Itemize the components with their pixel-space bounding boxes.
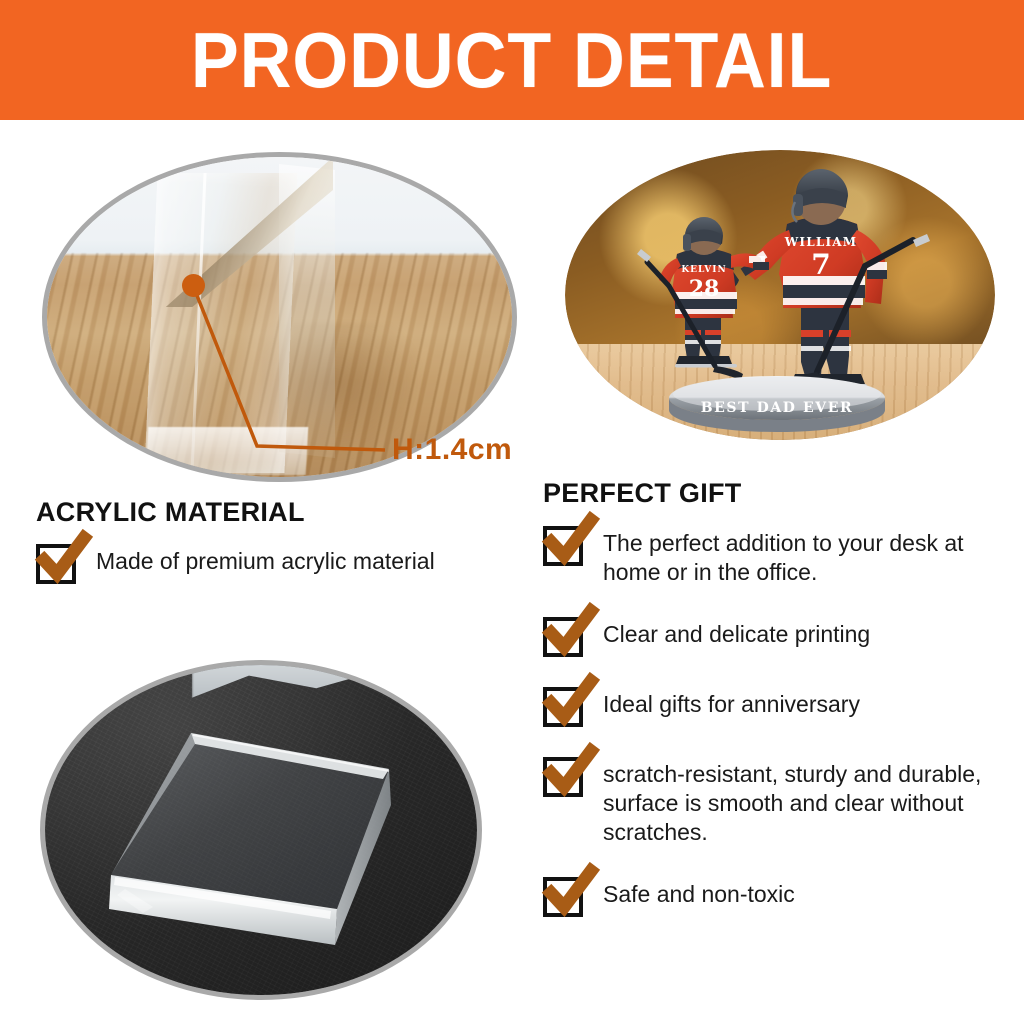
list-item-label: Safe and non-toxic: [603, 873, 795, 909]
list-item-label: Clear and delicate printing: [603, 613, 870, 649]
thickness-callout-dot: [182, 274, 205, 297]
checkmark-icon: [543, 683, 587, 727]
acrylic-material-heading: ACRYLIC MATERIAL: [36, 497, 305, 528]
figurine-base: BEST DAD EVER: [669, 376, 885, 432]
child-hockey-figure: KELVIN 28: [637, 217, 769, 380]
perfect-gift-heading: PERFECT GIFT: [543, 478, 742, 509]
adult-hockey-figure: WILLIAM 7: [709, 169, 930, 389]
list-item: scratch-resistant, sturdy and durable, s…: [543, 753, 1013, 847]
list-item: Ideal gifts for anniversary: [543, 683, 1013, 727]
hockey-figurine-photo: WILLIAM 7: [565, 150, 995, 440]
svg-text:BEST DAD EVER: BEST DAD EVER: [701, 400, 854, 416]
list-item: Clear and delicate printing: [543, 613, 1013, 657]
acrylic-slab-base-highlight: [146, 427, 309, 475]
list-item: The perfect addition to your desk at hom…: [543, 522, 1013, 587]
acrylic-material-feature-list: Made of premium acrylic material: [36, 540, 526, 606]
thickness-callout-label: H:1.4cm: [392, 433, 512, 467]
perfect-gift-feature-list: The perfect addition to your desk at hom…: [543, 522, 1013, 943]
figurine-artwork: WILLIAM 7: [565, 150, 995, 440]
svg-text:KELVIN: KELVIN: [681, 265, 726, 275]
list-item-label: Ideal gifts for anniversary: [603, 683, 860, 719]
page-title: PRODUCT DETAIL: [191, 21, 832, 99]
list-item-label: Made of premium acrylic material: [96, 540, 435, 576]
list-item-label: The perfect addition to your desk at hom…: [603, 522, 1013, 587]
checkmark-icon: [36, 540, 80, 584]
svg-text:28: 28: [689, 276, 720, 302]
acrylic-block-artwork: [45, 665, 482, 1000]
list-item: Safe and non-toxic: [543, 873, 1013, 917]
page-header-banner: PRODUCT DETAIL: [0, 0, 1024, 120]
list-item-label: scratch-resistant, sturdy and durable, s…: [603, 753, 1013, 847]
checkmark-icon: [543, 613, 587, 657]
svg-text:WILLIAM: WILLIAM: [784, 235, 858, 249]
product-detail-page: PRODUCT DETAIL H:1.4cm: [0, 0, 1024, 1024]
checkmark-icon: [543, 522, 587, 566]
acrylic-block-on-slate-photo: [40, 660, 482, 1000]
checkmark-icon: [543, 753, 587, 797]
list-item: Made of premium acrylic material: [36, 540, 526, 584]
svg-text:7: 7: [811, 248, 830, 281]
checkmark-icon: [543, 873, 587, 917]
